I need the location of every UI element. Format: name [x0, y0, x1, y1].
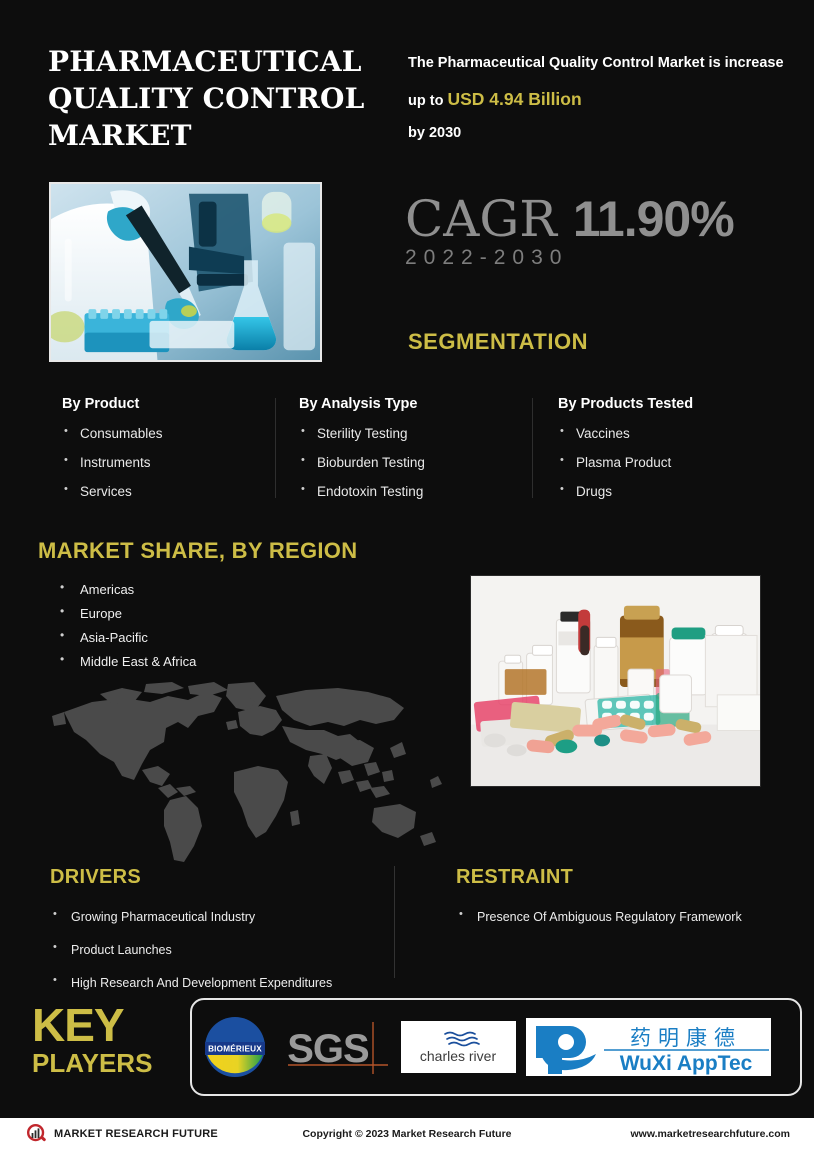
key-players-line2: PLAYERS [32, 1049, 172, 1078]
sgs-logo-graphic: SGS [276, 1018, 391, 1076]
region-item: Americas [56, 582, 386, 597]
charles-river-logo-graphic: charles river [401, 1021, 516, 1073]
headline-suffix: by 2030 [408, 125, 461, 141]
segmentation-item: Plasma Product [558, 455, 762, 470]
infographic-page: PHARMACEUTICAL QUALITY CONTROL MARKET Th… [0, 0, 814, 1150]
segmentation-item: Consumables [62, 426, 287, 441]
driver-item: Growing Pharmaceutical Industry [50, 910, 395, 924]
biomerieux-logo-graphic: BIOMÉRIEUX [204, 1016, 266, 1078]
restraint-item: Presence Of Ambiguous Regulatory Framewo… [456, 910, 801, 924]
pharmaceutical-products-photo [470, 575, 761, 787]
logo-wuxi-apptec: 药明康德 WuXi AppTec [526, 1018, 771, 1076]
cagr-year-range: 2022-2030 [405, 246, 805, 270]
page-title: PHARMACEUTICAL QUALITY CONTROL MARKET [48, 44, 378, 155]
segmentation-column-by-products-tested: By Products Tested Vaccines Plasma Produ… [544, 396, 762, 513]
segmentation-heading: By Analysis Type [299, 396, 544, 412]
logo-sgs: SGS [276, 1018, 391, 1076]
logo-charles-river: charles river [401, 1021, 516, 1073]
segmentation-item: Bioburden Testing [299, 455, 544, 470]
world-map [38, 676, 448, 866]
segmentation-item: Drugs [558, 484, 762, 499]
restraint-block: RESTRAINT Presence Of Ambiguous Regulato… [456, 866, 801, 943]
footer: Copyright © 2023 Market Research Future … [0, 1118, 814, 1150]
segmentation-heading: By Products Tested [558, 396, 762, 412]
drivers-block: DRIVERS Growing Pharmaceutical Industry … [50, 866, 395, 1009]
region-item: Middle East & Africa [56, 654, 386, 669]
region-item: Europe [56, 606, 386, 621]
segmentation-heading: By Product [62, 396, 287, 412]
laboratory-photo-graphic [51, 184, 320, 360]
segmentation-item: Vaccines [558, 426, 762, 441]
market-share-title: MARKET SHARE, BY REGION [38, 538, 357, 564]
market-share-region-list: Americas Europe Asia-Pacific Middle East… [56, 582, 386, 678]
cagr-line: CAGR 11.90% [405, 190, 805, 248]
pharmaceutical-products-graphic [471, 576, 760, 786]
laboratory-photo [49, 182, 322, 362]
segmentation-item: Instruments [62, 455, 287, 470]
segmentation-item: Endotoxin Testing [299, 484, 544, 499]
segmentation-item: Services [62, 484, 287, 499]
cagr-label: CAGR [405, 190, 573, 248]
key-players-logo-box: BIOMÉRIEUX SGS charles river [190, 998, 802, 1096]
svg-text:WuXi AppTec: WuXi AppTec [620, 1052, 753, 1075]
segmentation-column-by-analysis-type: By Analysis Type Sterility Testing Biobu… [287, 396, 544, 513]
key-players-line1: KEY [32, 1003, 172, 1047]
svg-text:药明康德: 药明康德 [630, 1026, 742, 1050]
wuxi-apptec-logo-graphic: 药明康德 WuXi AppTec [526, 1018, 771, 1076]
restraint-title: RESTRAINT [456, 866, 801, 889]
svg-text:charles river: charles river [420, 1048, 497, 1064]
driver-item: High Research And Development Expenditur… [50, 976, 395, 990]
svg-text:BIOMÉRIEUX: BIOMÉRIEUX [208, 1044, 262, 1054]
logo-biomerieux: BIOMÉRIEUX [204, 1016, 266, 1078]
world-map-graphic [38, 676, 448, 866]
key-players-label: KEY PLAYERS [32, 1003, 172, 1078]
region-item: Asia-Pacific [56, 630, 386, 645]
segmentation-columns: By Product Consumables Instruments Servi… [62, 396, 762, 513]
cagr-value: 11.90% [573, 191, 734, 247]
headline-statement: The Pharmaceutical Quality Control Marke… [408, 48, 788, 150]
footer-url[interactable]: www.marketresearchfuture.com [630, 1128, 790, 1140]
segmentation-item: Sterility Testing [299, 426, 544, 441]
headline-market-value: USD 4.94 Billion [447, 89, 581, 109]
driver-item: Product Launches [50, 943, 395, 957]
drivers-title: DRIVERS [50, 866, 395, 889]
segmentation-column-by-product: By Product Consumables Instruments Servi… [62, 396, 287, 513]
cagr-block: CAGR 11.90% 2022-2030 [405, 190, 805, 270]
segmentation-title: SEGMENTATION [408, 329, 588, 355]
